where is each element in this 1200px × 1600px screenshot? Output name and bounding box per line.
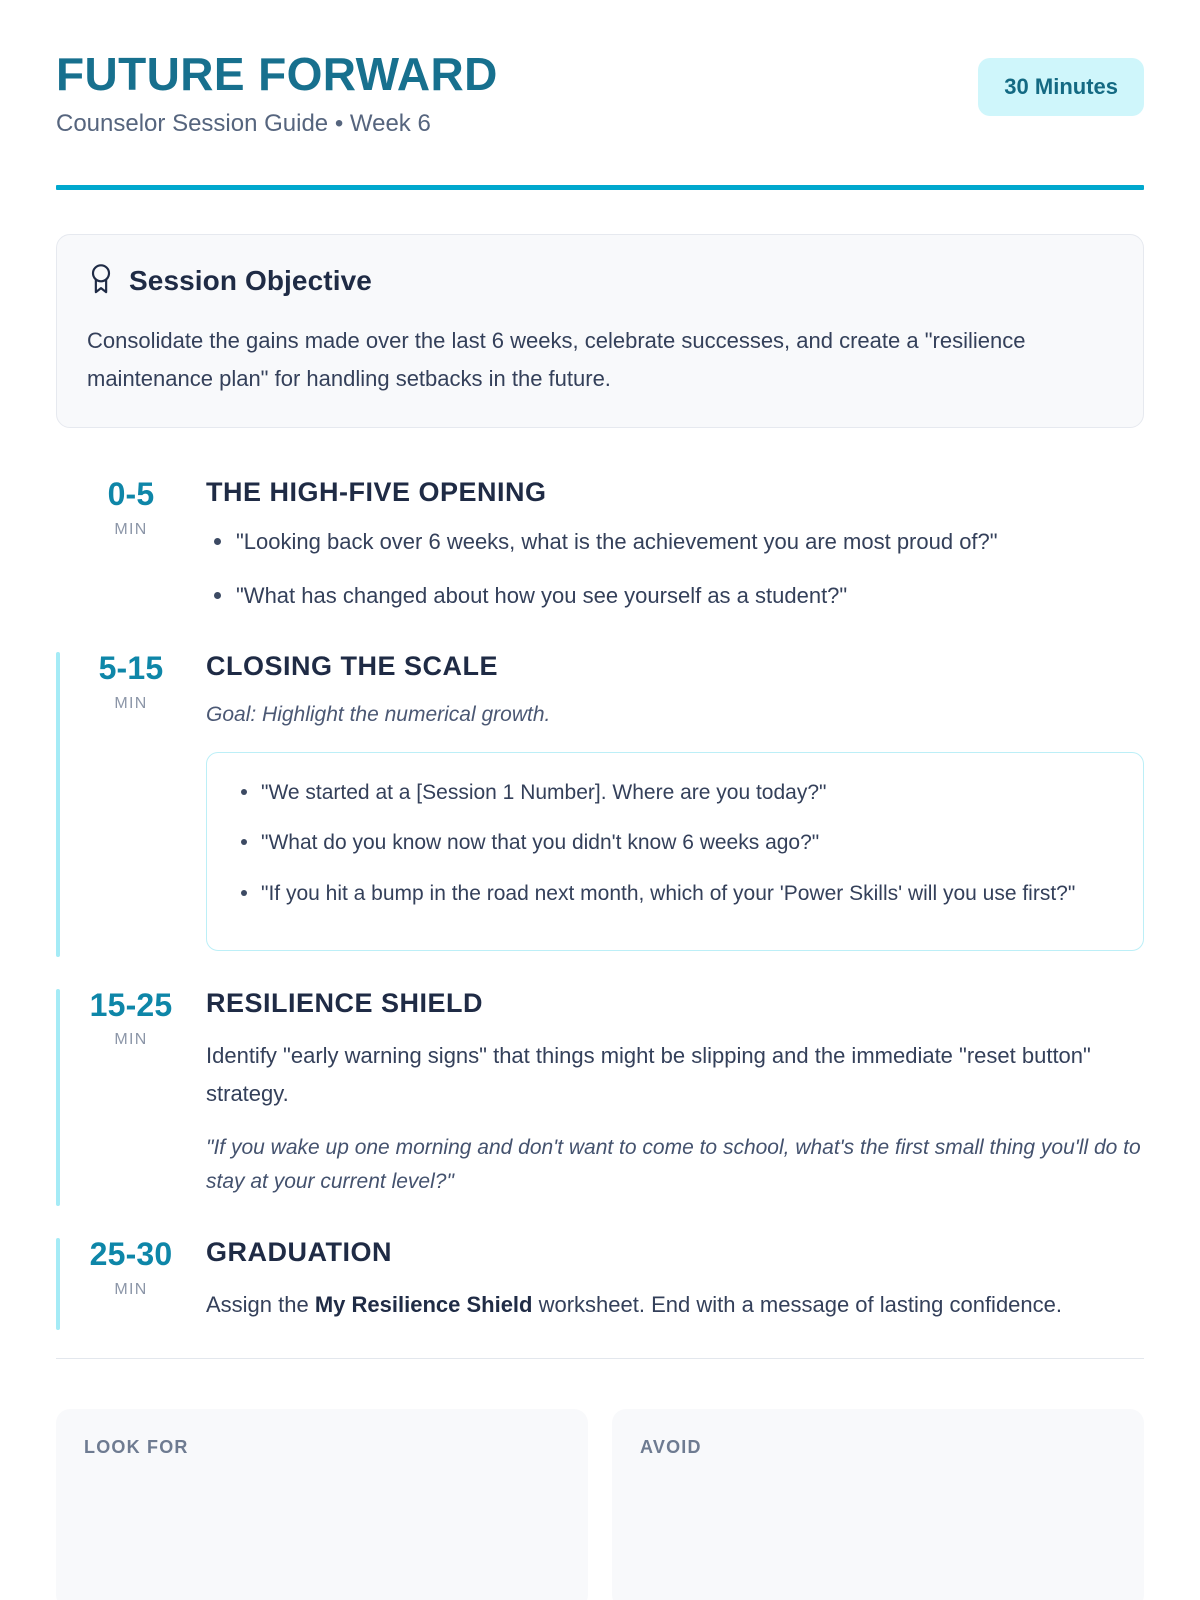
time-range: 15-25 (56, 987, 206, 1024)
list-item: "What has changed about how you see your… (206, 577, 1144, 615)
duration-badge: 30 Minutes (978, 58, 1144, 116)
timeline-block: 5-15 MIN CLOSING THE SCALE Goal: Highlig… (56, 648, 1144, 950)
time-range: 0-5 (56, 476, 206, 513)
objective-header: Session Objective (87, 263, 1113, 300)
session-guide-page: FUTURE FORWARD Counselor Session Guide •… (0, 0, 1200, 1600)
list-item: "What do you know now that you didn't kn… (215, 825, 1117, 861)
objective-title: Session Objective (129, 265, 372, 297)
timeline-bullet-list: "Looking back over 6 weeks, what is the … (206, 523, 1144, 615)
timeline-paragraph: Identify "early warning signs" that thin… (206, 1037, 1144, 1113)
timeline-content: RESILIENCE SHIELD Identify "early warnin… (206, 985, 1144, 1200)
time-unit: MIN (56, 1031, 206, 1049)
time-unit: MIN (56, 695, 206, 713)
timeline-heading: THE HIGH-FIVE OPENING (206, 476, 1144, 508)
page-header: FUTURE FORWARD Counselor Session Guide •… (56, 0, 1144, 139)
timeline-block: 25-30 MIN GRADUATION Assign the My Resil… (56, 1234, 1144, 1324)
timeline-block: 0-5 MIN THE HIGH-FIVE OPENING "Looking b… (56, 474, 1144, 614)
timeline-block: 15-25 MIN RESILIENCE SHIELD Identify "ea… (56, 985, 1144, 1200)
footer-cards: LOOK FOR AVOID (56, 1409, 1144, 1600)
avoid-title: AVOID (640, 1437, 1116, 1458)
look-for-card: LOOK FOR (56, 1409, 588, 1600)
worksheet-name: My Resilience Shield (315, 1292, 533, 1317)
timeline-heading: CLOSING THE SCALE (206, 650, 1144, 682)
timeline-time: 5-15 MIN (56, 648, 206, 950)
timeline-time: 15-25 MIN (56, 985, 206, 1200)
timeline-content: THE HIGH-FIVE OPENING "Looking back over… (206, 474, 1144, 614)
script-box: "We started at a [Session 1 Number]. Whe… (206, 752, 1144, 950)
footer-divider (56, 1358, 1144, 1359)
timeline-goal: Goal: Highlight the numerical growth. (206, 699, 1144, 731)
time-range: 25-30 (56, 1236, 206, 1273)
header-titles: FUTURE FORWARD Counselor Session Guide •… (56, 50, 498, 139)
session-objective-card: Session Objective Consolidate the gains … (56, 234, 1144, 429)
list-item: "We started at a [Session 1 Number]. Whe… (215, 775, 1117, 811)
script-bullet-list: "We started at a [Session 1 Number]. Whe… (215, 775, 1117, 911)
timeline-heading: RESILIENCE SHIELD (206, 987, 1144, 1019)
award-ribbon-icon (87, 263, 115, 300)
look-for-title: LOOK FOR (84, 1437, 560, 1458)
timeline-content: GRADUATION Assign the My Resilience Shie… (206, 1234, 1144, 1324)
time-range: 5-15 (56, 650, 206, 687)
page-title: FUTURE FORWARD (56, 50, 498, 99)
timeline-heading: GRADUATION (206, 1236, 1144, 1268)
time-unit: MIN (56, 521, 206, 539)
timeline-time: 0-5 MIN (56, 474, 206, 614)
time-unit: MIN (56, 1281, 206, 1299)
timeline-time: 25-30 MIN (56, 1234, 206, 1324)
paragraph-post: worksheet. End with a message of lasting… (532, 1292, 1062, 1317)
timeline-quote: "If you wake up one morning and don't wa… (206, 1131, 1144, 1200)
objective-body: Consolidate the gains made over the last… (87, 322, 1113, 398)
page-subtitle: Counselor Session Guide • Week 6 (56, 109, 498, 139)
paragraph-pre: Assign the (206, 1292, 315, 1317)
session-timeline: 0-5 MIN THE HIGH-FIVE OPENING "Looking b… (56, 474, 1144, 1324)
avoid-card: AVOID (612, 1409, 1144, 1600)
list-item: "If you hit a bump in the road next mont… (215, 876, 1117, 912)
list-item: "Looking back over 6 weeks, what is the … (206, 523, 1144, 561)
timeline-paragraph: Assign the My Resilience Shield workshee… (206, 1286, 1144, 1324)
timeline-content: CLOSING THE SCALE Goal: Highlight the nu… (206, 648, 1144, 950)
header-divider (56, 185, 1144, 190)
